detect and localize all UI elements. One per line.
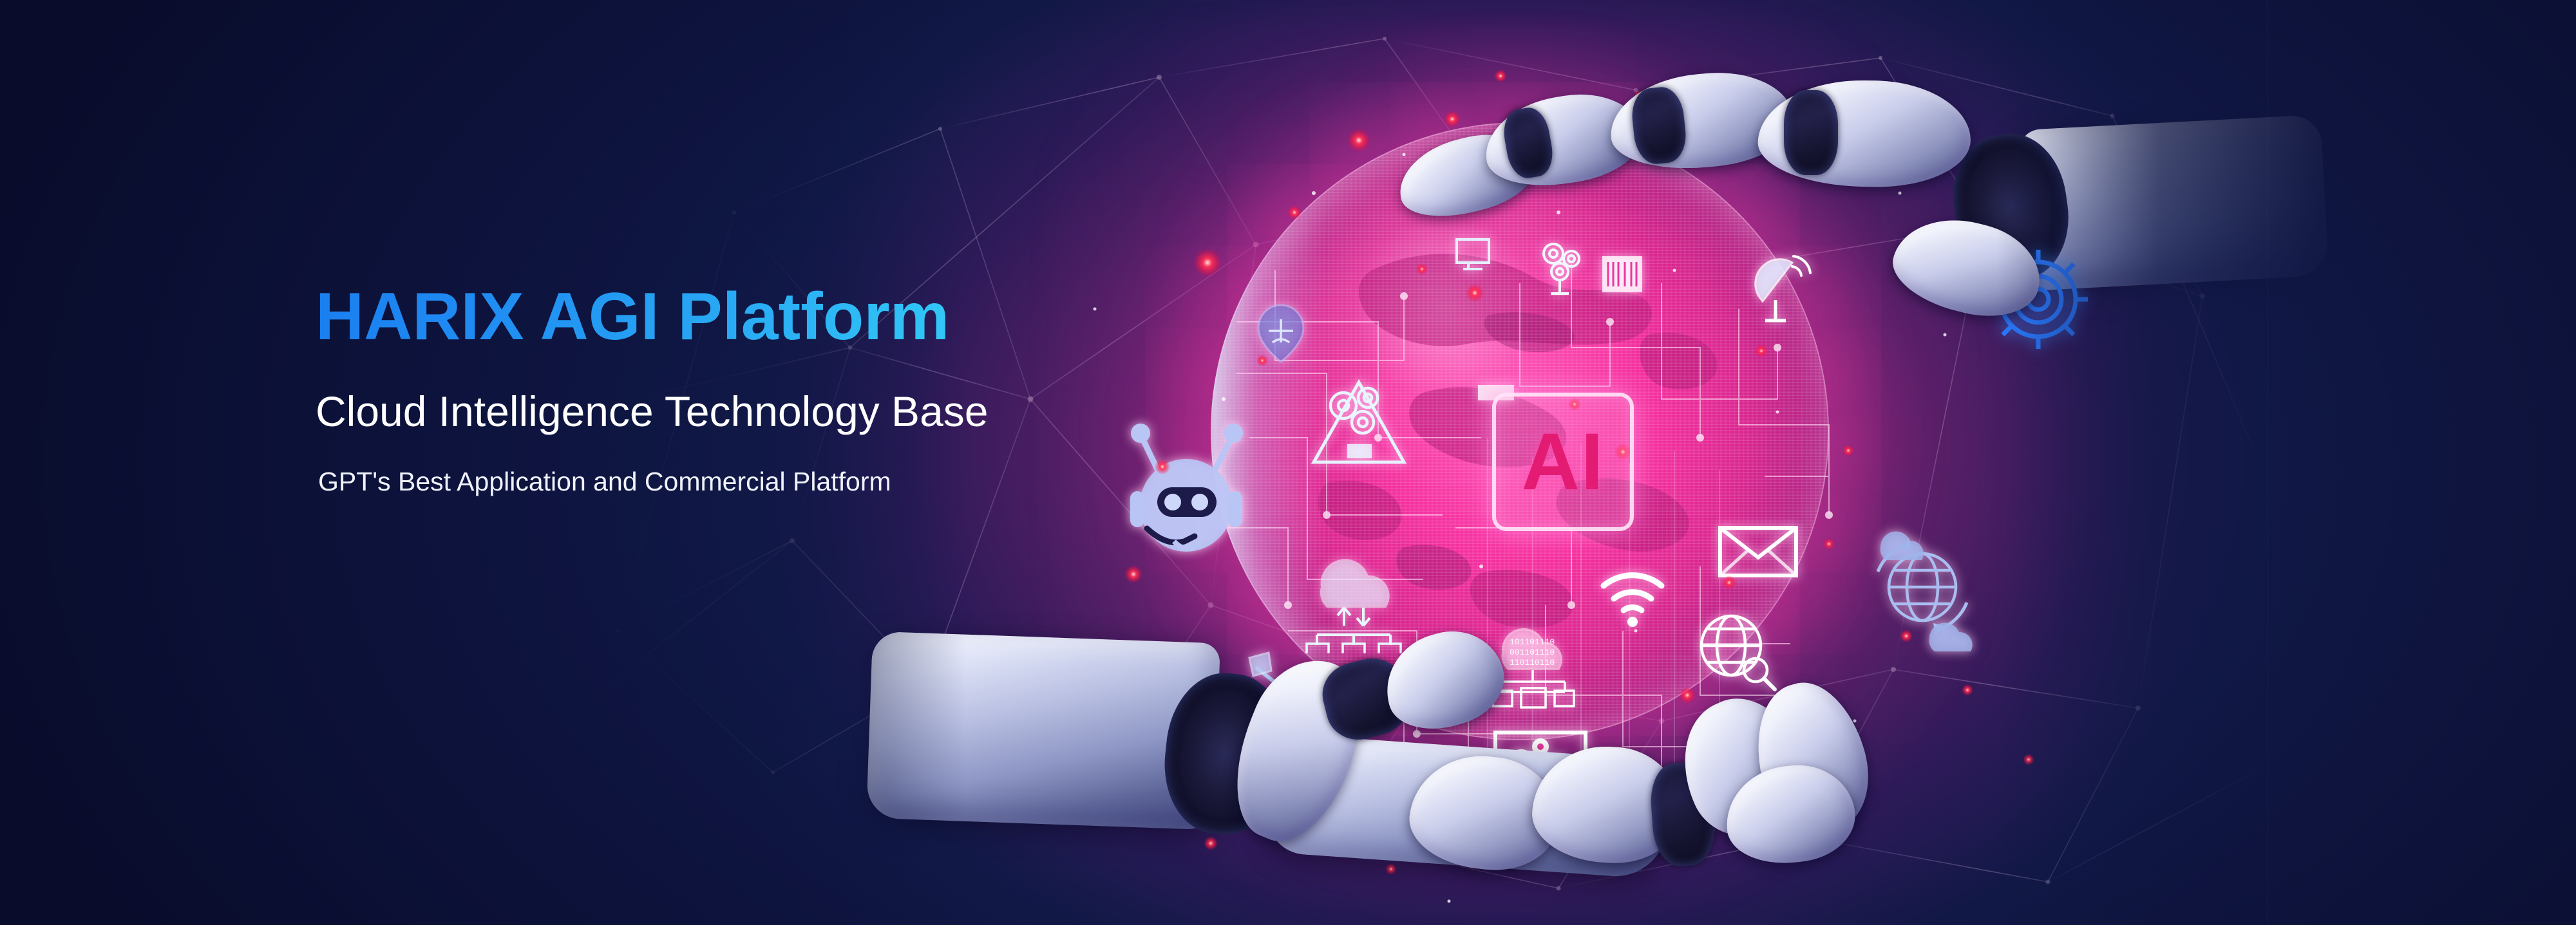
page-title: HARIX AGI Platform xyxy=(316,283,1217,350)
background-seam xyxy=(2267,0,2268,925)
hero-banner: 101101110001101110110110110 xyxy=(0,0,2576,925)
page-subtitle: Cloud Intelligence Technology Base xyxy=(316,390,1217,433)
page-tagline: GPT's Best Application and Commercial Pl… xyxy=(318,469,1217,495)
hero-text-block: HARIX AGI Platform Cloud Intelligence Te… xyxy=(316,283,1217,495)
